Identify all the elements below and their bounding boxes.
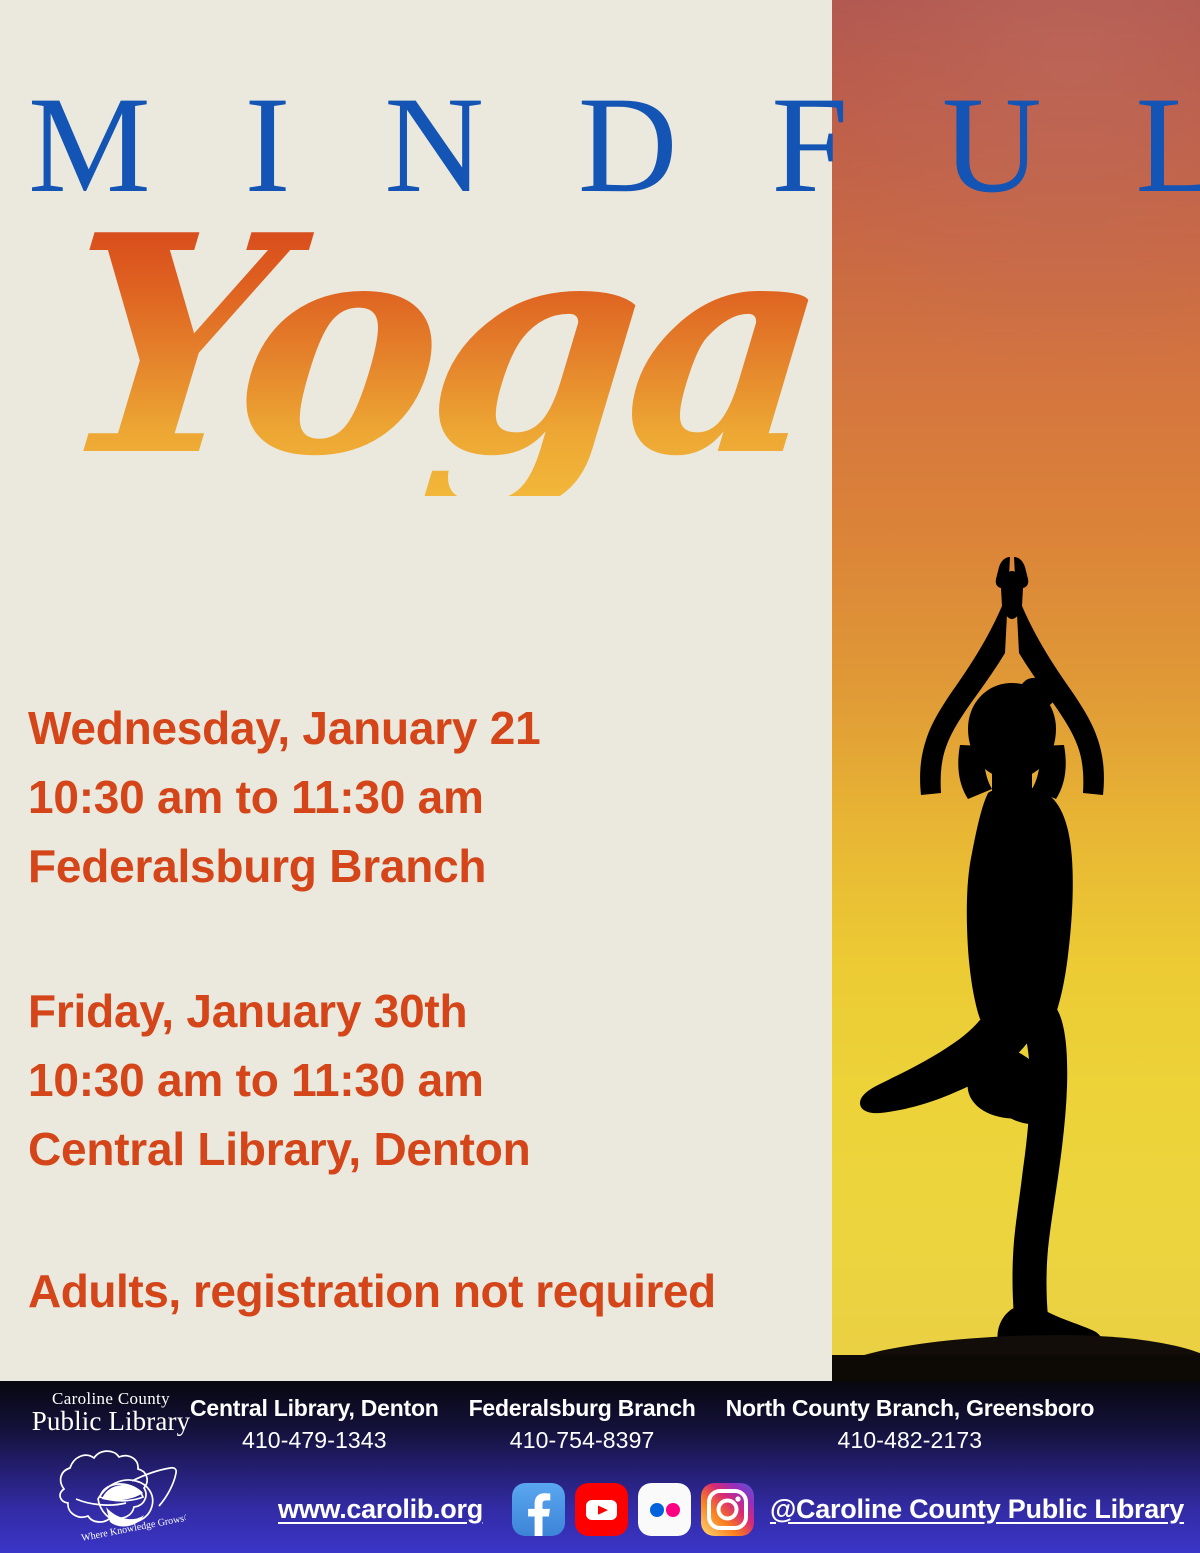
- branch-central: Central Library, Denton 410-479-1343: [190, 1393, 439, 1457]
- yoga-tree-pose-silhouette: [842, 549, 1192, 1359]
- instagram-icon[interactable]: [701, 1483, 754, 1536]
- branch-federalsburg: Federalsburg Branch 410-754-8397: [469, 1393, 696, 1457]
- ground-base: [832, 1355, 1200, 1381]
- event-2-date: Friday, January 30th: [28, 977, 828, 1046]
- event-spacer: [28, 901, 828, 977]
- branch-phone[interactable]: 410-482-2173: [726, 1423, 1095, 1457]
- event-1-time: 10:30 am to 11:30 am: [28, 763, 828, 832]
- event-1-date: Wednesday, January 21: [28, 694, 828, 763]
- page-title-yoga: Yoga: [48, 196, 830, 496]
- event-1-location: Federalsburg Branch: [28, 832, 828, 901]
- event-2-location: Central Library, Denton: [28, 1115, 828, 1184]
- website-link[interactable]: www.carolib.org: [278, 1494, 483, 1525]
- branch-name: North County Branch, Greensboro: [726, 1393, 1095, 1423]
- youtube-icon[interactable]: [575, 1483, 628, 1536]
- branch-name: Federalsburg Branch: [469, 1393, 696, 1423]
- footer: Caroline County Public Library Where Kno…: [0, 1381, 1200, 1553]
- branch-north-county: North County Branch, Greensboro 410-482-…: [726, 1393, 1095, 1457]
- flickr-icon[interactable]: [638, 1483, 691, 1536]
- branch-phone[interactable]: 410-479-1343: [190, 1423, 439, 1457]
- branch-name: Central Library, Denton: [190, 1393, 439, 1423]
- poster: M I N D F U L Yoga Wednesday, January 21…: [0, 0, 1200, 1553]
- branch-phone[interactable]: 410-754-8397: [469, 1423, 696, 1457]
- social-icon-row: [512, 1483, 754, 1536]
- audience-note: Adults, registration not required: [28, 1260, 828, 1322]
- footer-links-row: www.carolib.org: [0, 1477, 1200, 1541]
- event-details: Wednesday, January 21 10:30 am to 11:30 …: [28, 694, 828, 1322]
- facebook-icon[interactable]: [512, 1483, 565, 1536]
- event-2-time: 10:30 am to 11:30 am: [28, 1046, 828, 1115]
- logo-line-2: Public Library: [28, 1406, 194, 1437]
- branch-contact-list: Central Library, Denton 410-479-1343 Fed…: [190, 1393, 1190, 1457]
- social-handle-link[interactable]: @Caroline County Public Library: [770, 1494, 1184, 1525]
- note-spacer: [28, 1184, 828, 1260]
